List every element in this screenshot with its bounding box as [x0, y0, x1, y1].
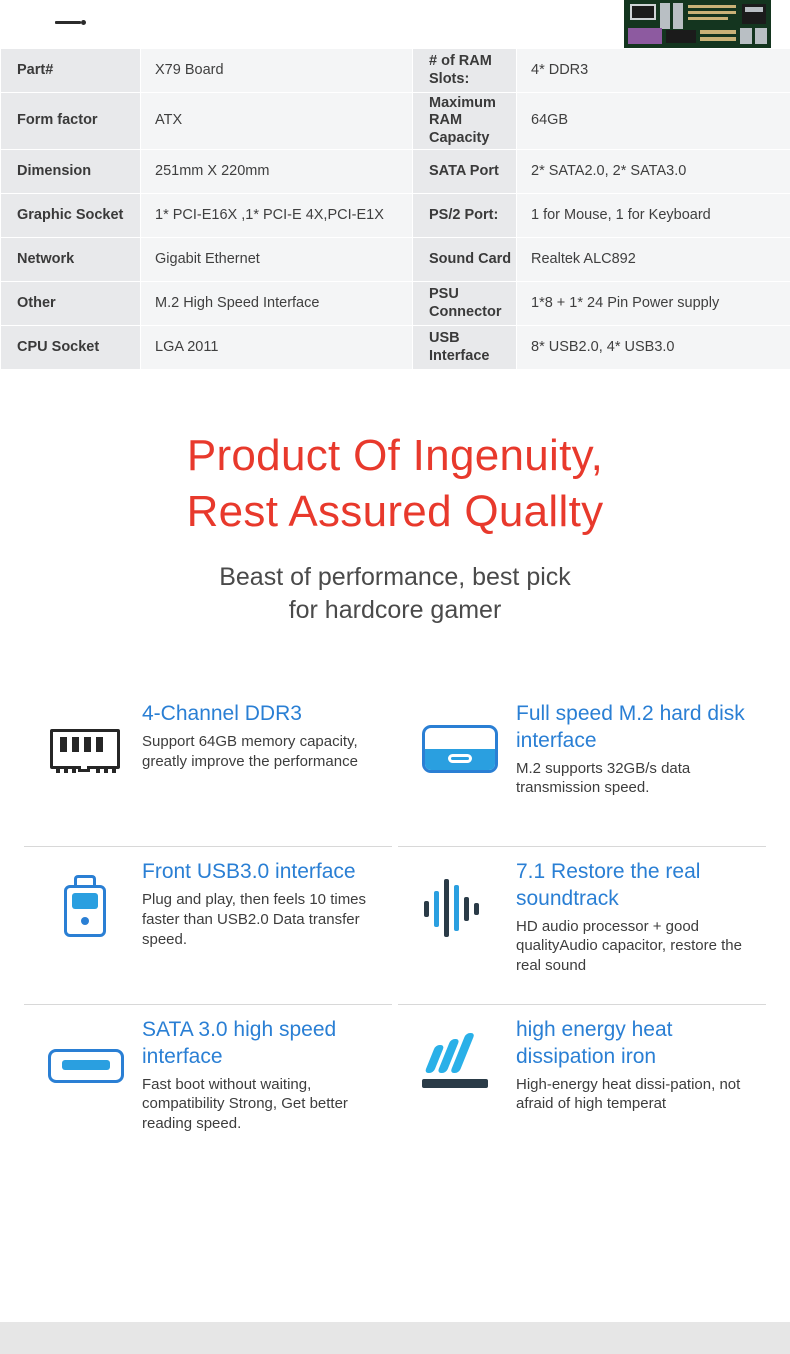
spec-value: 1 for Mouse, 1 for Keyboard	[517, 194, 790, 238]
spec-label: Other	[1, 282, 141, 326]
spec-label: Network	[1, 238, 141, 282]
spec-label: Graphic Socket	[1, 194, 141, 238]
motherboard-thumbnail	[624, 0, 771, 48]
hard-disk-icon	[422, 713, 500, 787]
table-row: Dimension 251mm X 220mm SATA Port 2* SAT…	[1, 150, 790, 194]
table-row: CPU Socket LGA 2011 USB Interface 8* USB…	[1, 326, 790, 370]
feature-text: Full speed M.2 hard disk interface M.2 s…	[516, 699, 760, 799]
spec-label: USB Interface	[413, 326, 517, 370]
feature-title: 7.1 Restore the real soundtrack	[516, 859, 760, 913]
feature-item: Front USB3.0 interface Plug and play, th…	[24, 847, 392, 1005]
spec-value: Realtek ALC892	[517, 238, 790, 282]
spec-label: CPU Socket	[1, 326, 141, 370]
audio-waveform-icon	[422, 871, 500, 945]
headline-line-1: Product Of Ingenuity,	[0, 428, 790, 484]
feature-title: SATA 3.0 high speed interface	[142, 1017, 386, 1071]
page-header	[0, 0, 790, 48]
spec-label: Dimension	[1, 150, 141, 194]
table-row: Form factor ATX Maximum RAM Capacity 64G…	[1, 93, 790, 150]
spec-value: ATX	[141, 93, 413, 150]
specification-table: Part# X79 Board # of RAM Slots: 4* DDR3 …	[0, 48, 790, 370]
spec-value: 1* PCI-E16X ,1* PCI-E 4X,PCI-E1X	[141, 194, 413, 238]
spec-value: 8* USB2.0, 4* USB3.0	[517, 326, 790, 370]
spec-label: Part#	[1, 49, 141, 93]
feature-item: Full speed M.2 hard disk interface M.2 s…	[398, 689, 766, 847]
feature-description: High-energy heat dissi-pation, not afrai…	[516, 1075, 760, 1115]
feature-item: high energy heat dissipation iron High-e…	[398, 1005, 766, 1163]
spec-value: 4* DDR3	[517, 49, 790, 93]
spec-value: 64GB	[517, 93, 790, 150]
spec-value: 1*8 + 1* 24 Pin Power supply	[517, 282, 790, 326]
spec-label: PSU Connector	[413, 282, 517, 326]
subheadline-line-1: Beast of performance, best pick	[0, 561, 790, 594]
feature-item: 4-Channel DDR3 Support 64GB memory capac…	[24, 689, 392, 847]
feature-description: Support 64GB memory capacity, greatly im…	[142, 732, 386, 772]
feature-text: 4-Channel DDR3 Support 64GB memory capac…	[142, 699, 386, 772]
spec-label: Sound Card	[413, 238, 517, 282]
feature-description: M.2 supports 32GB/s data transmission sp…	[516, 759, 760, 799]
spec-label: # of RAM Slots:	[413, 49, 517, 93]
table-row: Other M.2 High Speed Interface PSU Conne…	[1, 282, 790, 326]
dot-icon	[81, 20, 86, 25]
subheadline-line-2: for hardcore gamer	[0, 594, 790, 627]
usb-flash-drive-icon	[48, 871, 126, 945]
spec-value: X79 Board	[141, 49, 413, 93]
feature-text: 7.1 Restore the real soundtrack HD audio…	[516, 857, 760, 977]
heat-dissipation-icon	[422, 1029, 500, 1103]
headline-section: Product Of Ingenuity, Rest Assured Quall…	[0, 428, 790, 627]
spec-label: Form factor	[1, 93, 141, 150]
feature-title: 4-Channel DDR3	[142, 701, 386, 728]
feature-description: Plug and play, then feels 10 times faste…	[142, 890, 386, 950]
bottom-bar	[0, 1322, 790, 1354]
feature-title: Full speed M.2 hard disk interface	[516, 701, 760, 755]
spec-value: 251mm X 220mm	[141, 150, 413, 194]
headline-line-2: Rest Assured Quallty	[0, 484, 790, 540]
spec-value: LGA 2011	[141, 326, 413, 370]
spec-value: M.2 High Speed Interface	[141, 282, 413, 326]
spec-value: Gigabit Ethernet	[141, 238, 413, 282]
spec-label: SATA Port	[413, 150, 517, 194]
feature-item: SATA 3.0 high speed interface Fast boot …	[24, 1005, 392, 1163]
ram-module-icon	[48, 713, 126, 787]
feature-title: high energy heat dissipation iron	[516, 1017, 760, 1071]
sata-connector-icon	[48, 1029, 126, 1103]
feature-grid: 4-Channel DDR3 Support 64GB memory capac…	[0, 689, 790, 1163]
feature-description: Fast boot without waiting, compatibility…	[142, 1075, 386, 1135]
table-row: Graphic Socket 1* PCI-E16X ,1* PCI-E 4X,…	[1, 194, 790, 238]
feature-text: high energy heat dissipation iron High-e…	[516, 1015, 760, 1115]
table-row: Network Gigabit Ethernet Sound Card Real…	[1, 238, 790, 282]
spec-value: 2* SATA2.0, 2* SATA3.0	[517, 150, 790, 194]
spec-table-body: Part# X79 Board # of RAM Slots: 4* DDR3 …	[1, 49, 790, 370]
feature-description: HD audio processor + good qualityAudio c…	[516, 917, 760, 977]
spec-label: Maximum RAM Capacity	[413, 93, 517, 150]
feature-text: SATA 3.0 high speed interface Fast boot …	[142, 1015, 386, 1135]
dash-mark-icon	[55, 21, 81, 24]
feature-text: Front USB3.0 interface Plug and play, th…	[142, 857, 386, 950]
feature-item: 7.1 Restore the real soundtrack HD audio…	[398, 847, 766, 1005]
table-row: Part# X79 Board # of RAM Slots: 4* DDR3	[1, 49, 790, 93]
spec-label: PS/2 Port:	[413, 194, 517, 238]
feature-title: Front USB3.0 interface	[142, 859, 386, 886]
